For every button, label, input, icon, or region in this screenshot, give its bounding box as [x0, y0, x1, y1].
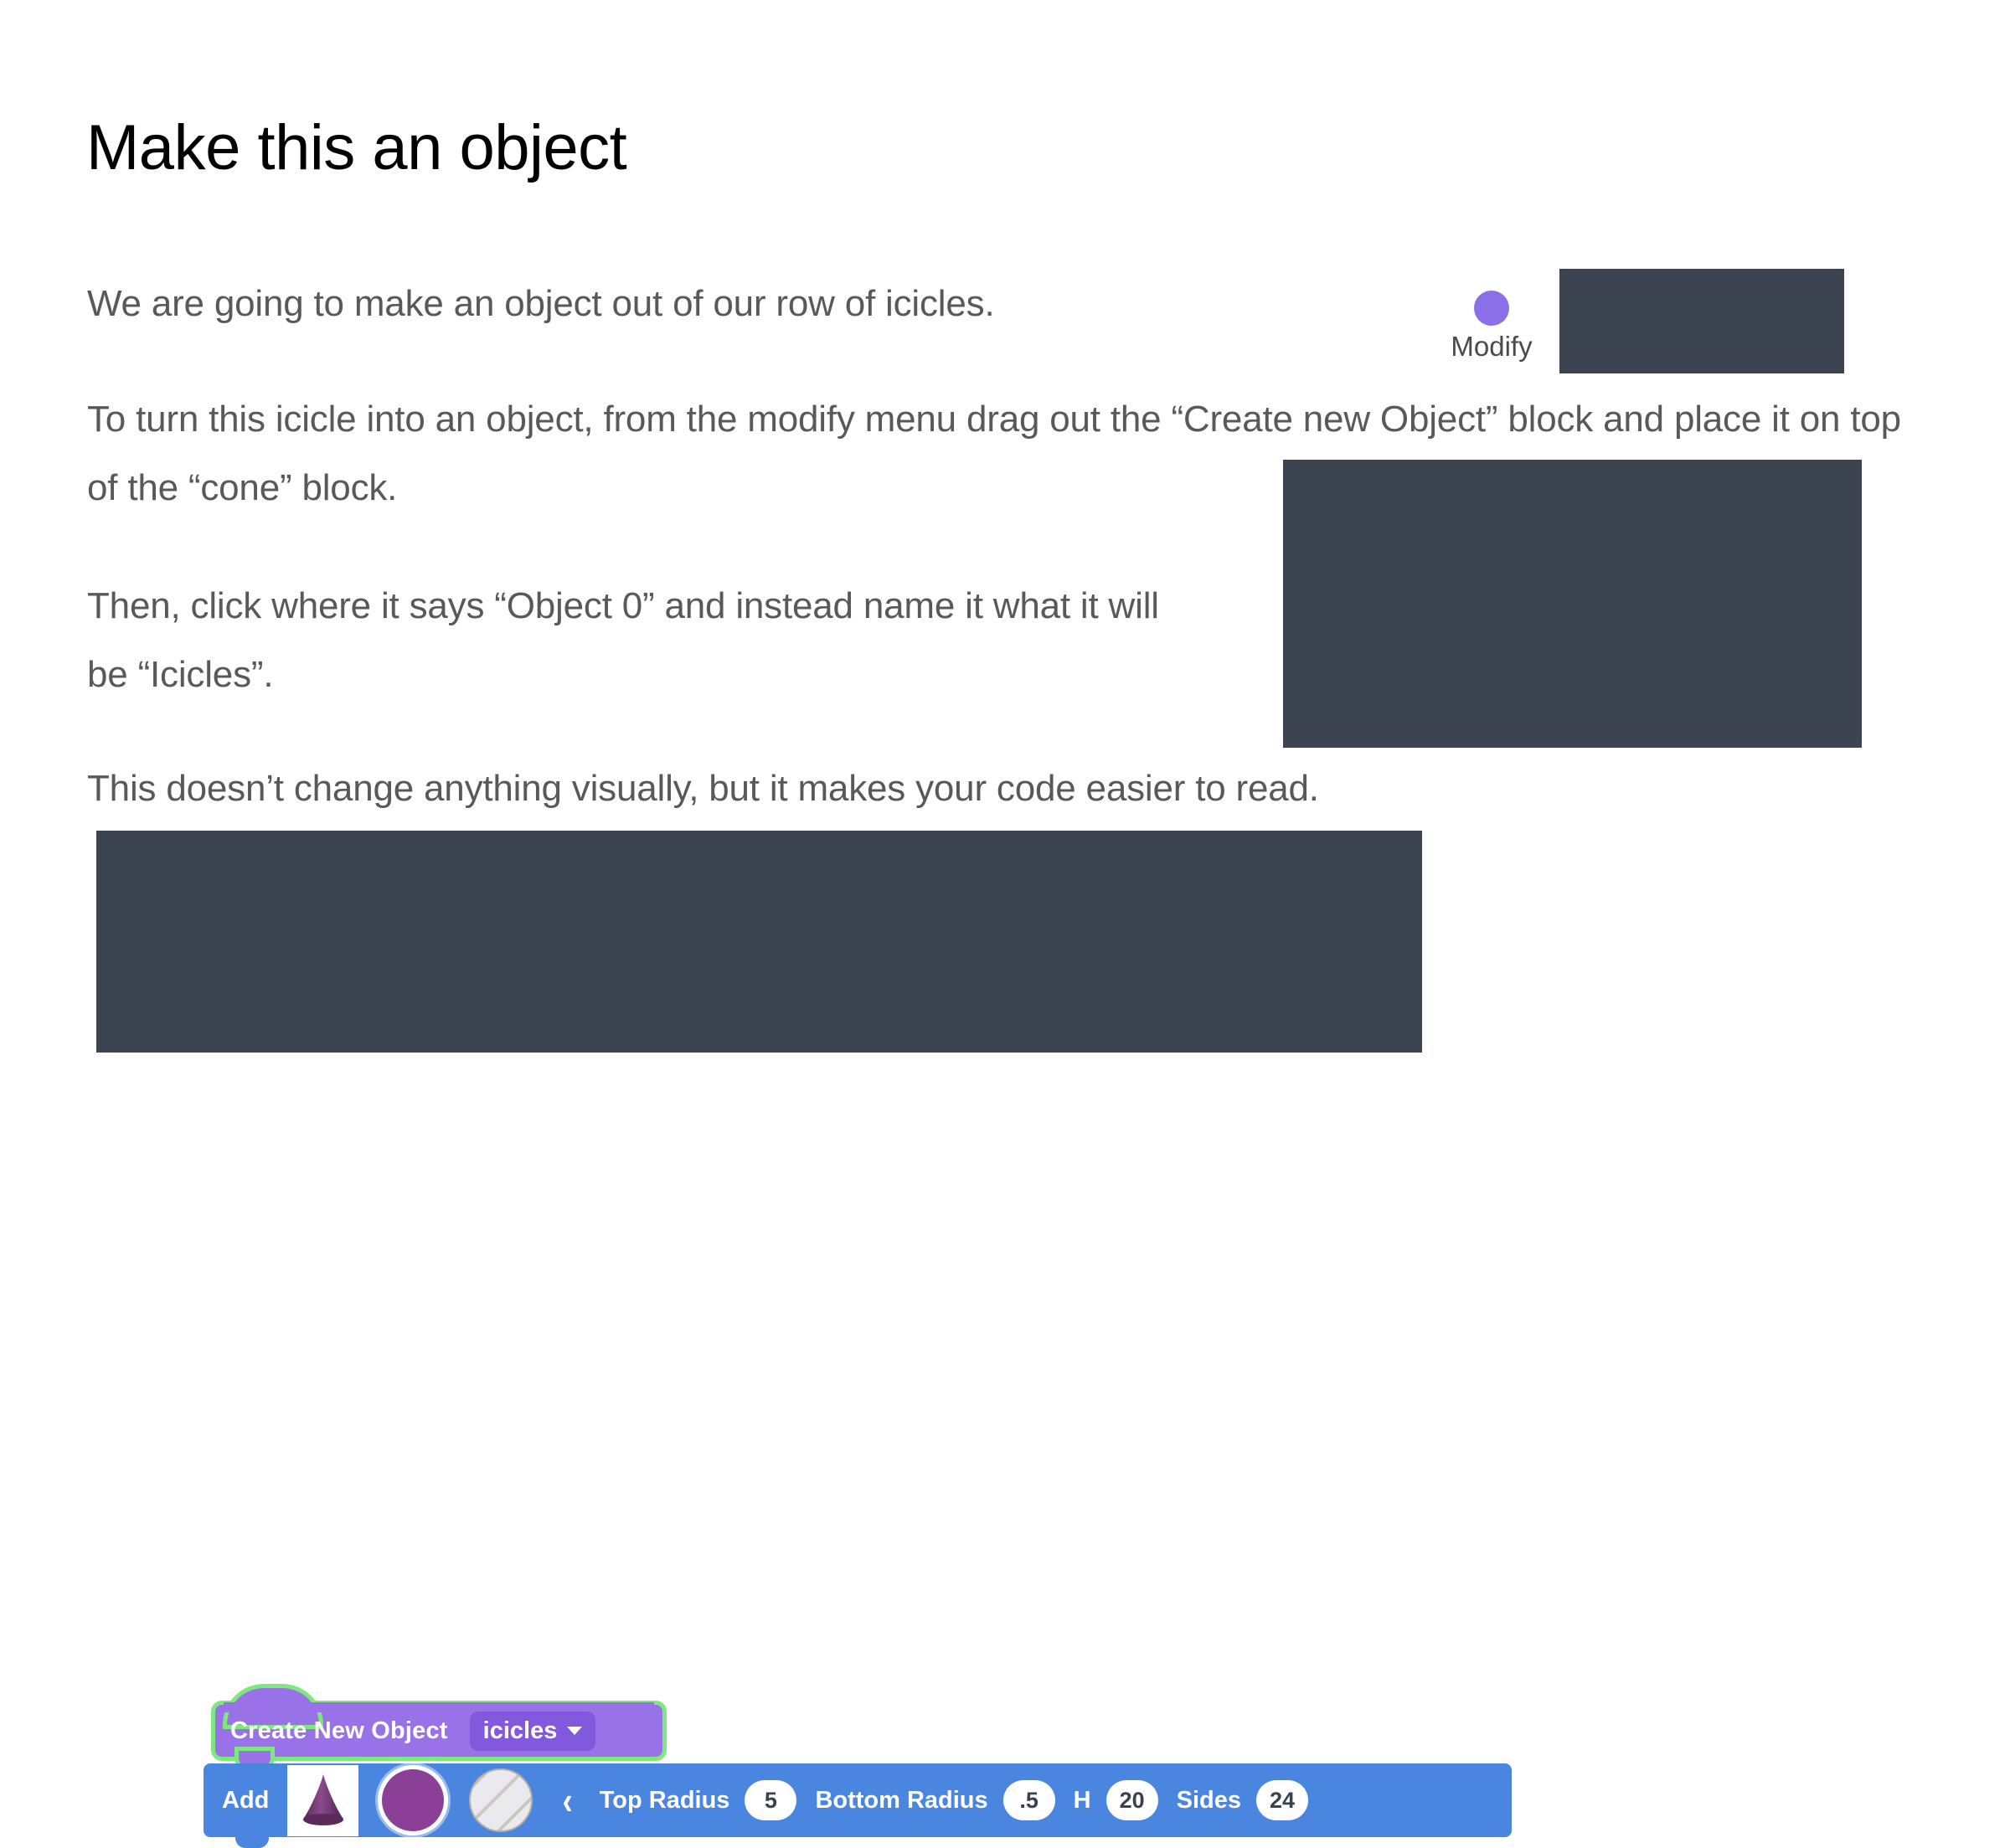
add-label: Add — [222, 1787, 269, 1815]
block-notch-shape — [235, 1831, 269, 1848]
modify-circle-icon — [1474, 291, 1509, 326]
bottom-radius-input[interactable]: .5 — [1003, 1780, 1055, 1820]
solid-color-swatch-icon[interactable] — [382, 1769, 444, 1831]
stack-canvas-panel: Create New Object icicles Add — [96, 831, 1422, 1053]
paragraph-1: We are going to make an object out of ou… — [87, 270, 994, 338]
palette-canvas-panel: Create New Object — [1559, 269, 1844, 373]
modify-menu-item[interactable]: Modify — [1437, 291, 1546, 363]
page-title: Make this an object — [86, 113, 626, 183]
height-label: H — [1074, 1787, 1091, 1815]
dropdown-canvas-panel: Create New Object object0 ✓ object0 obje… — [1283, 460, 1862, 748]
bottom-radius-label: Bottom Radius — [815, 1787, 987, 1815]
height-input[interactable]: 20 — [1106, 1780, 1158, 1820]
top-radius-label: Top Radius — [600, 1787, 730, 1815]
hole-hatched-swatch-icon[interactable] — [469, 1768, 533, 1832]
object-variable-dropdown[interactable]: icicles — [470, 1712, 596, 1751]
modify-menu-label: Modify — [1437, 331, 1546, 363]
block-hat-seam — [224, 1702, 654, 1712]
create-new-object-label: Create New Object — [230, 1717, 448, 1745]
sides-label: Sides — [1177, 1787, 1241, 1815]
paragraph-4: This doesn’t change anything visually, b… — [87, 754, 1319, 823]
create-new-object-block-icicles[interactable]: Create New Object icicles — [215, 1705, 662, 1757]
add-cone-block[interactable]: Add ‹ Top Radius 5 Bottom Radius .5 H — [204, 1763, 1512, 1837]
paragraph-3: Then, click where it says “Object 0” and… — [87, 572, 1201, 709]
collapse-chevron-icon[interactable]: ‹ — [563, 1781, 573, 1820]
object-variable-value: icicles — [483, 1717, 558, 1745]
chevron-down-icon — [567, 1727, 582, 1735]
top-radius-input[interactable]: 5 — [745, 1780, 796, 1820]
cone-shape-icon[interactable] — [287, 1765, 358, 1836]
sides-input[interactable]: 24 — [1256, 1780, 1308, 1820]
